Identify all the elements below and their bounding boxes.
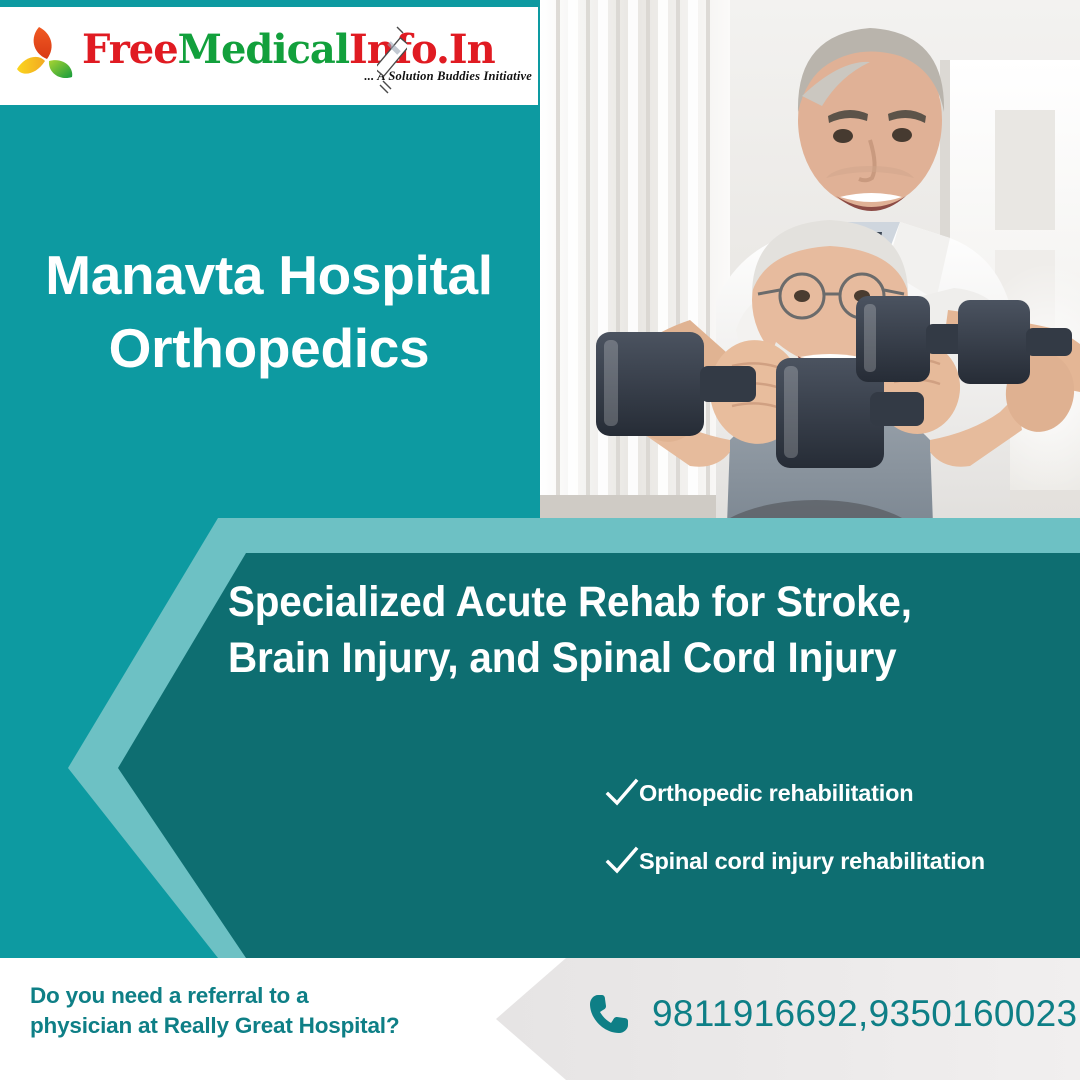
referral-question: Do you need a referral to a physician at… [30,981,530,1041]
brand-word-free: Free [82,26,178,73]
phone-icon [586,991,632,1037]
headline-line-1: Specialized Acute Rehab for Stroke, [228,575,980,631]
headline-line-2: Brain Injury, and Spinal Cord Injury [228,631,980,687]
title-line-2: Orthopedics [45,312,493,385]
title-line-1: Manavta Hospital [45,239,493,312]
brand-wordmark: FreeMedicalInfo.In [82,29,538,71]
check-icon [605,778,639,808]
brand-word-medical: Medical [178,26,349,73]
brand-logo-band: FreeMedicalInfo.In ... A Solution Buddie… [0,7,538,105]
phone-contact[interactable]: 9811916692,9350160023 [586,991,1077,1037]
list-item: Spinal cord injury rehabilitation [605,846,1065,876]
hero-photo [540,0,1080,553]
syringe-icon [377,23,407,99]
phone-numbers[interactable]: 9811916692,9350160023 [652,993,1077,1035]
brand-word-info: Info.In [349,26,495,73]
top-accent-strip [0,0,540,7]
poster-canvas: FreeMedicalInfo.In ... A Solution Buddie… [0,0,1080,1080]
three-petal-leaf-icon [16,25,78,87]
hospital-title-panel: Manavta Hospital Orthopedics [0,105,538,518]
page-title: Manavta Hospital Orthopedics [23,239,515,384]
check-icon [605,846,639,876]
list-item: Orthopedic rehabilitation [605,778,1065,808]
headline: Specialized Acute Rehab for Stroke, Brai… [228,575,980,687]
referral-line-2: physician at Really Great Hospital? [30,1011,530,1041]
list-item-label: Orthopedic rehabilitation [639,780,913,807]
list-item-label: Spinal cord injury rehabilitation [639,848,985,875]
service-list: Orthopedic rehabilitation Spinal cord in… [605,778,1065,914]
referral-line-1: Do you need a referral to a [30,981,530,1011]
footer-bar: Do you need a referral to a physician at… [0,958,1080,1080]
